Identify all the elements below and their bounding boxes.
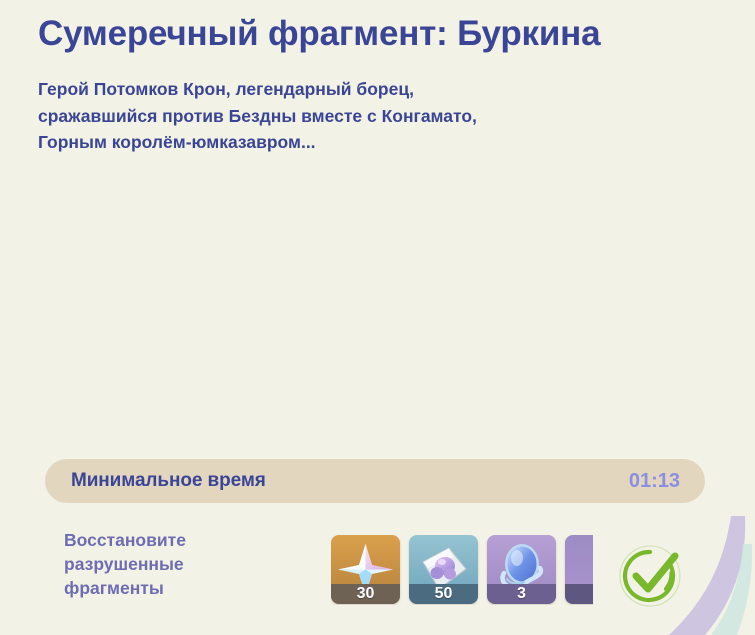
reward-qty-strip: 3 bbox=[487, 584, 556, 604]
rewards-row: Восстановите разрушенные фрагменты bbox=[0, 525, 755, 617]
rewards-label-line: Восстановите bbox=[64, 529, 314, 553]
fragment-description: Герой Потомков Крон, легендарный борец, … bbox=[38, 76, 728, 156]
reward-qty-strip: 50 bbox=[409, 584, 478, 604]
reward-item-card-clipped[interactable] bbox=[565, 535, 593, 604]
description-line: Горным королём-юмказавром... bbox=[38, 129, 728, 156]
minimum-time-bar: Минимальное время 01:13 bbox=[45, 459, 705, 503]
reward-item-card[interactable]: 3 bbox=[487, 535, 556, 604]
rewards-label-line: фрагменты bbox=[64, 577, 314, 601]
reward-quantity: 50 bbox=[435, 586, 453, 602]
page-title: Сумеречный фрагмент: Буркина bbox=[38, 14, 728, 54]
fragment-header: Сумеречный фрагмент: Буркина Герой Потом… bbox=[38, 14, 728, 156]
reward-item-card[interactable]: 50 bbox=[409, 535, 478, 604]
minimum-time-label: Минимальное время bbox=[71, 470, 266, 492]
reward-quantity: 3 bbox=[517, 586, 526, 602]
twilight-fragment-panel: Сумеречный фрагмент: Буркина Герой Потом… bbox=[0, 0, 755, 635]
green-check-circle-icon[interactable] bbox=[617, 543, 683, 609]
reward-qty-strip bbox=[565, 584, 593, 604]
rewards-label-line: разрушенные bbox=[64, 553, 314, 577]
reward-item-card[interactable]: 30 bbox=[331, 535, 400, 604]
description-line: сражавшийся против Бездны вместе с Конга… bbox=[38, 103, 728, 130]
minimum-time-value: 01:13 bbox=[629, 470, 680, 493]
reward-items-strip: 30 bbox=[331, 535, 593, 605]
reward-qty-strip: 30 bbox=[331, 584, 400, 604]
rewards-objective-label: Восстановите разрушенные фрагменты bbox=[64, 529, 314, 600]
description-line: Герой Потомков Крон, легендарный борец, bbox=[38, 76, 728, 103]
reward-quantity: 30 bbox=[357, 586, 375, 602]
